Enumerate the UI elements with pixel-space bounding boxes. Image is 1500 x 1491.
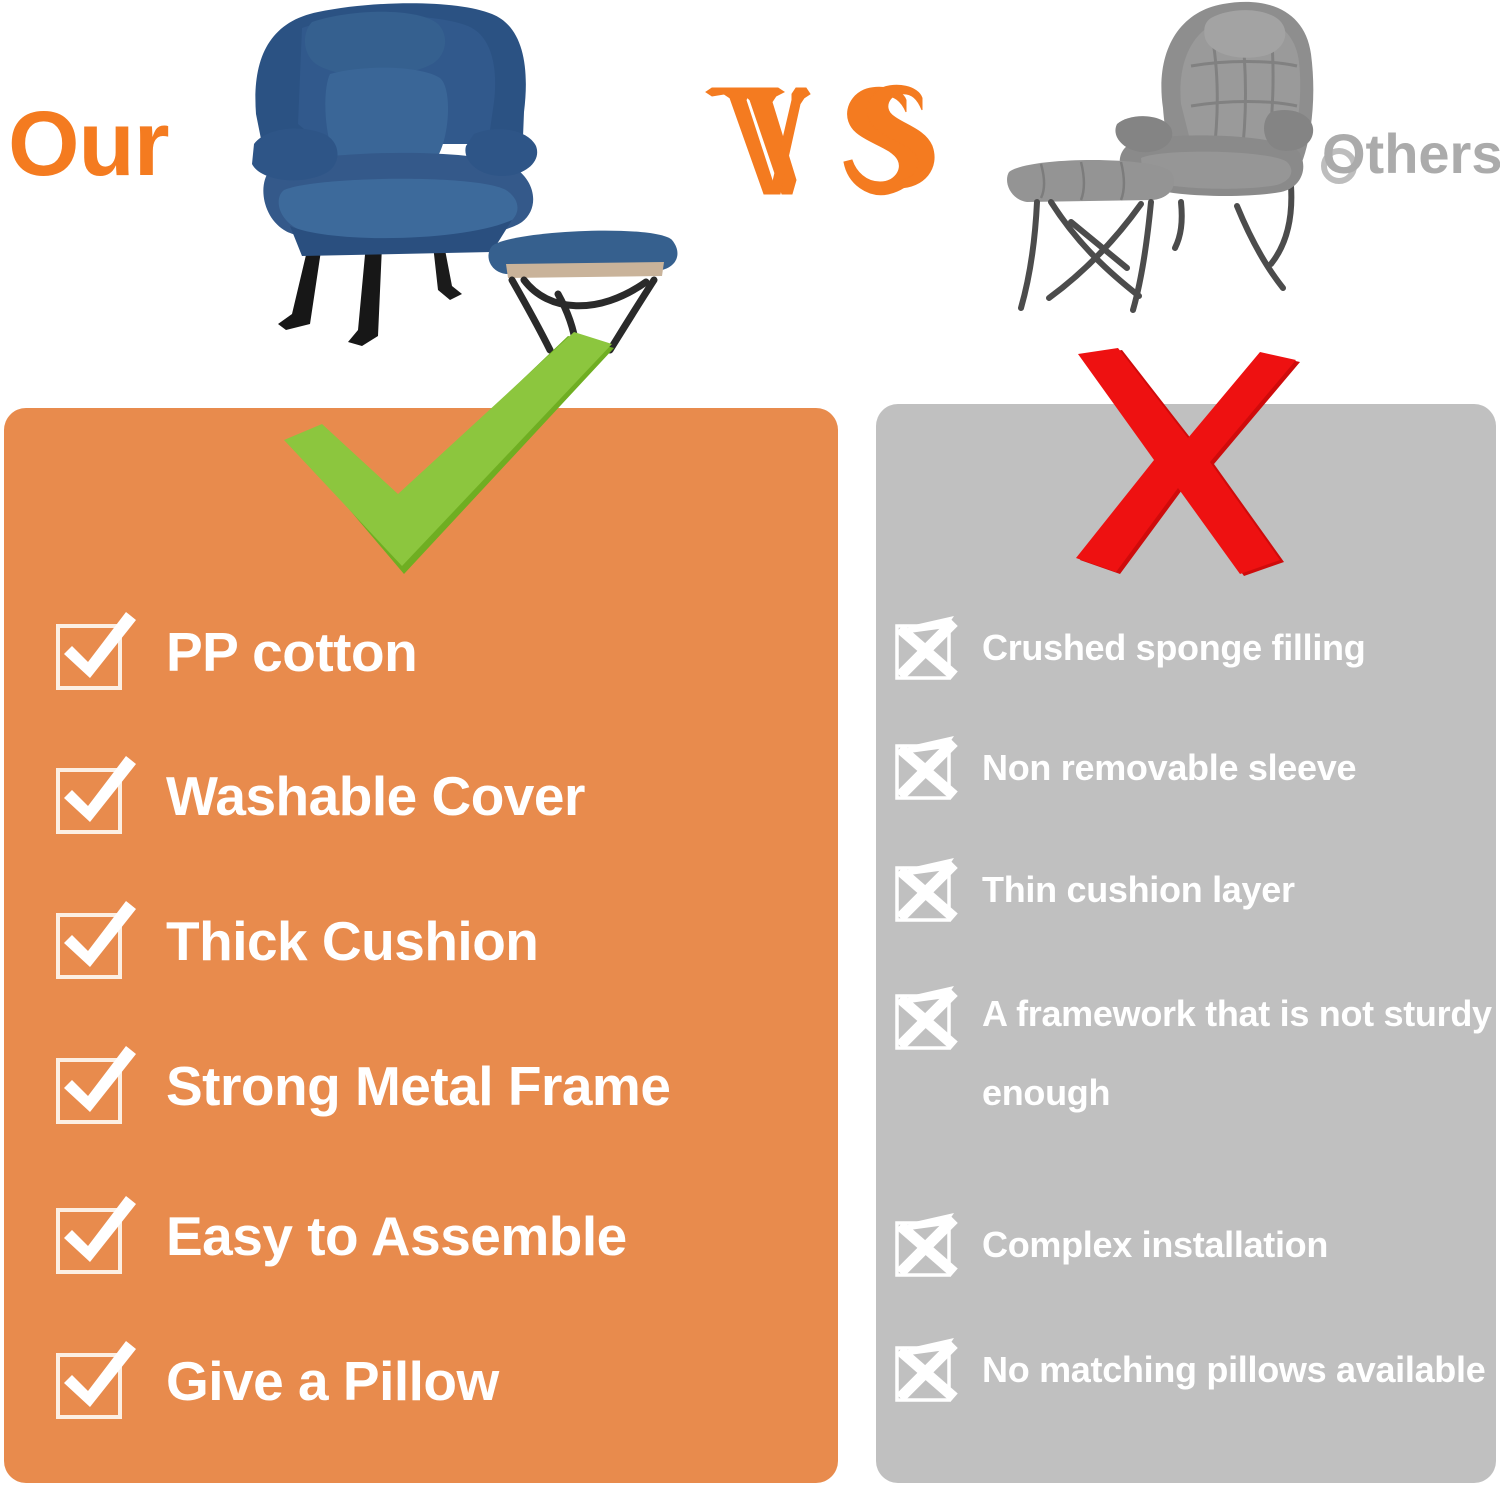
pros-list-item: Strong Metal Frame bbox=[52, 1048, 670, 1124]
checked-checkbox-icon bbox=[52, 608, 140, 696]
pros-list-item: Give a Pillow bbox=[52, 1343, 499, 1419]
green-check-mark-icon bbox=[268, 330, 638, 610]
pros-item-label: Washable Cover bbox=[166, 769, 585, 824]
vs-logo bbox=[700, 82, 940, 222]
cons-item-label: No matching pillows available bbox=[982, 1342, 1500, 1398]
cons-list-item: Crushed sponge filling bbox=[892, 612, 1500, 684]
cons-list-item: A framework that is not sturdy enough bbox=[892, 974, 1500, 1132]
pros-item-label: Strong Metal Frame bbox=[166, 1059, 670, 1114]
crossed-checkbox-icon bbox=[892, 612, 964, 684]
our-chair-image bbox=[206, 0, 686, 354]
cons-list-item: Thin cushion layer bbox=[892, 854, 1500, 926]
crossed-checkbox-icon bbox=[892, 1334, 964, 1406]
checked-checkbox-icon bbox=[52, 752, 140, 840]
pros-list-item: Thick Cushion bbox=[52, 903, 538, 979]
cons-item-label: Complex installation bbox=[982, 1217, 1500, 1273]
red-cross-mark-icon bbox=[1058, 348, 1306, 580]
pros-list-item: PP cotton bbox=[52, 614, 417, 690]
checked-checkbox-icon bbox=[52, 1192, 140, 1280]
pros-item-label: Thick Cushion bbox=[166, 914, 538, 969]
our-label: Our bbox=[8, 98, 169, 190]
checked-checkbox-icon bbox=[52, 1042, 140, 1130]
crossed-checkbox-icon bbox=[892, 854, 964, 926]
checked-checkbox-icon bbox=[52, 897, 140, 985]
cons-list-item: No matching pillows available bbox=[892, 1334, 1500, 1406]
pros-item-label: Easy to Assemble bbox=[166, 1209, 627, 1264]
cons-list-item: Non removable sleeve bbox=[892, 732, 1500, 804]
crossed-checkbox-icon bbox=[892, 732, 964, 804]
pros-list-item: Easy to Assemble bbox=[52, 1198, 627, 1274]
crossed-checkbox-icon bbox=[892, 1209, 964, 1281]
others-label: Others bbox=[1322, 126, 1500, 182]
cons-item-label: A framework that is not sturdy enough bbox=[982, 974, 1500, 1132]
cons-item-label: Crushed sponge filling bbox=[982, 620, 1500, 676]
cons-item-label: Thin cushion layer bbox=[982, 862, 1500, 918]
pros-list-item: Washable Cover bbox=[52, 758, 585, 834]
others-chair-image bbox=[1005, 0, 1365, 326]
pros-item-label: PP cotton bbox=[166, 625, 417, 680]
comparison-infographic: Our bbox=[0, 0, 1500, 1491]
cons-list-item: Complex installation bbox=[892, 1209, 1500, 1281]
header-row: Our bbox=[0, 0, 1500, 400]
pros-item-label: Give a Pillow bbox=[166, 1354, 499, 1409]
cons-item-label: Non removable sleeve bbox=[982, 740, 1500, 796]
crossed-checkbox-icon bbox=[892, 982, 964, 1054]
checked-checkbox-icon bbox=[52, 1337, 140, 1425]
